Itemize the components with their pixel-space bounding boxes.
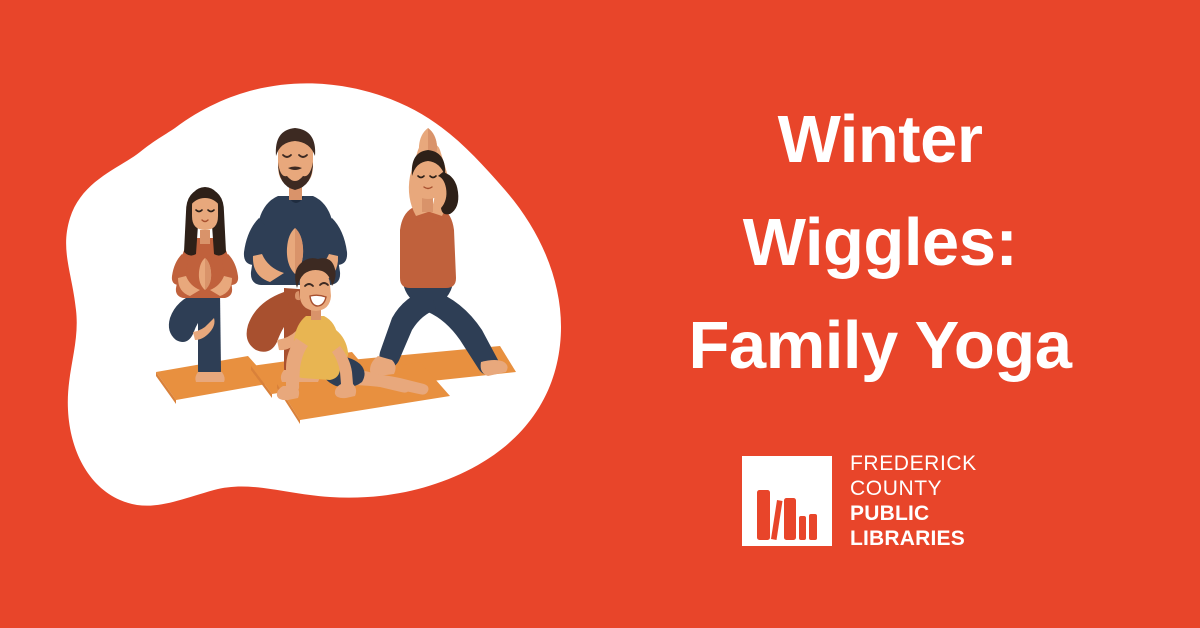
- title-line-1: Winter: [600, 88, 1160, 191]
- stack-of-books-icon: [753, 484, 821, 546]
- logo-line-frederick: FREDERICK: [850, 451, 977, 476]
- title-line-2: Wiggles:: [600, 191, 1160, 294]
- logo-line-libraries: LIBRARIES: [850, 526, 977, 551]
- library-logo: FREDERICK COUNTY PUBLIC LIBRARIES: [742, 451, 977, 551]
- title-line-3: Family Yoga: [600, 294, 1160, 397]
- logo-line-county: COUNTY: [850, 476, 977, 501]
- poster-canvas: Winter Wiggles: Family Yoga: [0, 0, 1200, 628]
- logo-mark: [742, 456, 832, 546]
- family-yoga-illustration: [0, 0, 620, 628]
- page-title: Winter Wiggles: Family Yoga: [600, 88, 1160, 397]
- logo-line-public: PUBLIC: [850, 501, 977, 526]
- logo-wordmark: FREDERICK COUNTY PUBLIC LIBRARIES: [850, 451, 977, 551]
